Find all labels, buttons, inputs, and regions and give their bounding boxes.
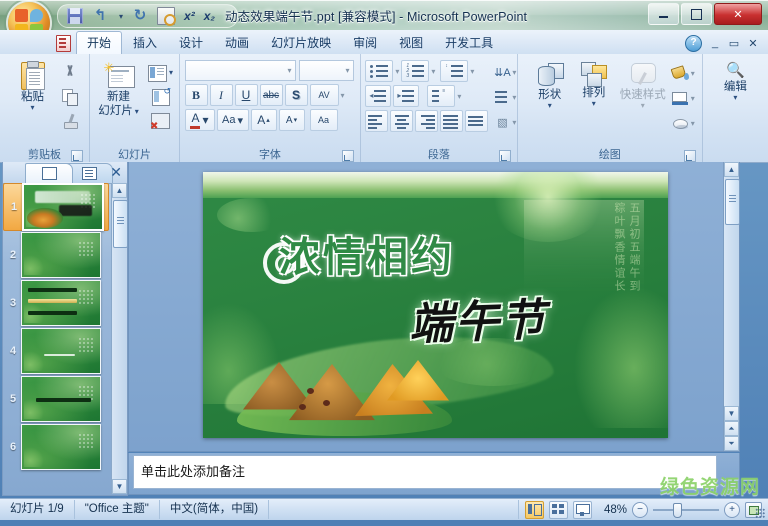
shrink-font-button[interactable]: A ▾ (279, 109, 305, 131)
italic-button[interactable]: I (210, 84, 233, 106)
justify-icon (443, 114, 461, 128)
copy-icon (62, 89, 78, 105)
change-case-button[interactable]: Aa ▾ (217, 109, 249, 131)
clear-formatting-icon: Aa (318, 115, 329, 125)
smartart-icon: ▧ (497, 116, 507, 129)
line-spacing-icon: ↕ (445, 64, 463, 78)
ribbon-restore-icon[interactable]: ▭ (728, 37, 740, 50)
new-slide-button[interactable]: ✳ 新建 幻灯片 ▾ (94, 60, 144, 120)
tab-insert[interactable]: 插入 (122, 31, 168, 54)
bullet-list-icon (370, 64, 388, 78)
slide-thumbnail-1[interactable] (22, 183, 104, 231)
slide-cloud-left (217, 198, 287, 232)
slide-bamboo-right (568, 278, 668, 428)
quick-styles-icon (629, 62, 657, 88)
view-slide-show-button[interactable] (573, 501, 592, 519)
superscript-icon[interactable]: x² (184, 8, 195, 24)
new-slide-chevron-down-icon[interactable]: ▾ (135, 109, 139, 115)
drawing-dialog-launcher-icon[interactable] (684, 150, 696, 162)
bold-button[interactable]: B (185, 84, 208, 106)
zoom-slider-handle[interactable] (673, 503, 682, 518)
print-preview-icon[interactable] (157, 7, 175, 25)
subscript-icon[interactable]: x₂ (204, 8, 215, 24)
columns-icon: ≡ (432, 89, 450, 103)
help-icon[interactable]: ? (685, 35, 702, 52)
shape-effects-icon (672, 116, 689, 131)
slides-group-title: 幻灯片 (93, 148, 176, 163)
outline-icon (82, 167, 97, 180)
reset-icon (152, 89, 170, 106)
paragraph-group-label: 段落 (428, 149, 450, 161)
zoom-level: 48% (597, 504, 627, 516)
view-normal-button[interactable] (525, 501, 544, 519)
tab-slides[interactable] (25, 163, 73, 183)
character-spacing-chevron-down-icon[interactable]: ▾ (341, 91, 345, 100)
drawing-group-label: 绘图 (599, 149, 621, 161)
increase-indent-button[interactable]: ▸ (393, 85, 419, 107)
columns-chevron-down-icon[interactable]: ▾ (457, 92, 461, 101)
clipboard-group-label: 剪贴板 (28, 149, 61, 161)
list-item[interactable]: 5 (3, 375, 111, 423)
numbering-button[interactable]: 123 (401, 60, 429, 82)
thumbnail-list: 1 2 3 4 (3, 183, 111, 494)
panel-scrollbar[interactable]: ▲ ▼ (111, 183, 127, 494)
paste-icon (20, 62, 46, 90)
font-size-chevron-down-icon[interactable]: ▾ (345, 66, 349, 75)
panel-scroll-up-icon[interactable]: ▲ (112, 183, 127, 198)
ribbon-group-paragraph: ▾ 123 ▾ ↕ ▾ ◂ (361, 54, 518, 163)
align-text-chevron-down-icon[interactable]: ▾ (512, 93, 516, 102)
ribbon-window-controls: ? _ ▭ ✕ (685, 32, 768, 54)
notes-input[interactable]: 单击此处添加备注 (133, 455, 717, 489)
zoom-in-button[interactable]: + (724, 502, 740, 518)
redo-icon[interactable]: ↻ (132, 8, 148, 24)
undo-icon[interactable]: ↰ (92, 8, 108, 24)
ribbon-group-clipboard: 粘贴 ▾ 剪贴板 (0, 54, 90, 163)
decrease-indent-button[interactable]: ◂ (365, 85, 391, 107)
shape-outline-icon (672, 91, 689, 106)
status-right-tools: 48% − + (519, 500, 768, 519)
tab-review[interactable]: 审阅 (342, 31, 388, 54)
slide-thumbnail-panel: ✕ 1 2 3 (2, 162, 128, 496)
status-spacer (269, 500, 519, 519)
editing-chevron-down-icon[interactable]: ▾ (733, 95, 737, 101)
clear-formatting-button[interactable]: Aa (310, 109, 338, 131)
close-panel-icon[interactable]: ✕ (110, 164, 122, 181)
distribute-button[interactable] (465, 110, 488, 132)
drawing-group-title: 绘图 (521, 148, 699, 163)
shrink-font-down-arrow-icon: ▾ (294, 116, 298, 124)
font-color-label: A (190, 111, 200, 129)
shape-effects-button[interactable] (671, 112, 691, 134)
columns-button[interactable]: ≡ (427, 85, 455, 107)
theme-name[interactable]: "Office 主题" (75, 500, 160, 519)
text-direction-button[interactable]: ⇊A (492, 61, 512, 83)
character-spacing-label: AV (318, 91, 329, 100)
zoom-out-button[interactable]: − (632, 502, 648, 518)
line-spacing-chevron-down-icon[interactable]: ▾ (470, 67, 474, 76)
panel-scrollbar-thumb[interactable] (113, 200, 128, 248)
align-left-button[interactable] (365, 110, 388, 132)
font-name-chevron-down-icon[interactable]: ▾ (287, 66, 291, 75)
notes-pane: 单击此处添加备注 (128, 453, 740, 495)
numbering-chevron-down-icon[interactable]: ▾ (431, 67, 435, 76)
slide-thumbnail-6[interactable] (21, 424, 101, 470)
ribbon-group-drawing: 形状 ▾ 排列 ▾ 快速样式 ▾ ▾ (518, 54, 703, 163)
reset-button[interactable] (146, 86, 176, 108)
bullets-chevron-down-icon[interactable]: ▾ (395, 67, 399, 76)
font-name-combo[interactable]: ▾ (185, 60, 296, 81)
shape-fill-chevron-down-icon[interactable]: ▾ (691, 69, 695, 78)
smartart-chevron-down-icon[interactable]: ▾ (512, 118, 516, 127)
font-size-combo[interactable]: ▾ (299, 60, 354, 81)
align-text-button[interactable] (492, 86, 512, 108)
bullets-button[interactable] (365, 60, 393, 82)
convert-smartart-button[interactable]: ▧ (492, 111, 512, 133)
font-color-button[interactable]: A ▾ (185, 109, 215, 131)
font-dialog-launcher-icon[interactable] (342, 150, 354, 162)
zoom-slider[interactable] (653, 503, 719, 517)
paint-bucket-icon (672, 66, 689, 81)
align-center-button[interactable] (390, 110, 413, 132)
status-bar: 幻灯片 1/9 "Office 主题" 中文(简体，中国) 48% − + (0, 498, 768, 520)
title-bar: ↰ ▾ ↻ x² x₂ ▾ 动态效果端午节.ppt [兼容模式] - Micro… (0, 0, 768, 31)
list-item[interactable]: 1 (3, 183, 109, 231)
thumbnail-number: 3 (5, 297, 21, 309)
new-slide-label-line2: 幻灯片 (98, 105, 133, 118)
shape-outline-chevron-down-icon[interactable]: ▾ (691, 94, 695, 103)
undo-dropdown-chevron-down-icon[interactable]: ▾ (119, 12, 123, 21)
slide-thumbnail-2[interactable] (21, 232, 101, 278)
align-right-button[interactable] (415, 110, 438, 132)
ribbon-group-font: ▾ ▾ B I U abc S AV ▾ (180, 54, 361, 163)
ribbon-group-editing: 🔍 编辑 ▾ (703, 54, 768, 163)
slide-thumbnail-4[interactable] (21, 328, 101, 374)
slide-editing-area: 五月初五端午到 粽叶飘香情谊长 浓情相约 端午节 ▲ (128, 162, 740, 452)
decrease-indent-icon: ◂ (369, 89, 387, 103)
clipboard-dialog-launcher-icon[interactable] (71, 150, 83, 162)
tab-slideshow[interactable]: 幻灯片放映 (260, 31, 342, 54)
new-slide-label-line1: 新建 (107, 91, 130, 104)
align-right-icon (418, 114, 436, 128)
slide-thumbnail-5[interactable] (21, 376, 101, 422)
align-text-icon (493, 90, 511, 104)
thumbnail-number: 4 (5, 345, 21, 357)
editing-button[interactable]: 🔍 编辑 ▾ (712, 60, 758, 103)
ribbon-close-icon[interactable]: ✕ (747, 37, 759, 50)
thumbnail-number: 1 (6, 201, 22, 213)
resize-grip[interactable] (755, 508, 765, 518)
thumbnail-number: 5 (5, 393, 21, 405)
font-group-title: 字体 (183, 148, 357, 163)
slide-scrollbar-thumb[interactable] (725, 179, 740, 225)
shrink-font-label: A (286, 115, 293, 126)
view-slide-sorter-button[interactable] (549, 501, 568, 519)
list-item[interactable]: 3 (3, 279, 111, 327)
text-direction-chevron-down-icon[interactable]: ▾ (512, 68, 516, 77)
distribute-icon (468, 114, 486, 128)
tab-home[interactable]: 开始 (76, 31, 122, 55)
increase-indent-icon: ▸ (397, 89, 415, 103)
slide-scroll-down-icon[interactable]: ▼ (724, 406, 739, 421)
slide-subtitle[interactable]: 端午节 (408, 296, 548, 351)
paragraph-group-title: 段落 (364, 148, 514, 163)
grow-font-up-arrow-icon: ▴ (266, 116, 270, 124)
numbered-list-icon: 123 (406, 64, 424, 78)
paste-chevron-down-icon[interactable]: ▾ (30, 105, 34, 111)
powerpoint-app-icon (50, 32, 76, 54)
tab-animations[interactable]: 动画 (214, 31, 260, 54)
shapes-chevron-down-icon[interactable]: ▾ (548, 103, 552, 109)
ribbon-tab-strip: 开始 插入 设计 动画 幻灯片放映 审阅 视图 开发工具 ? _ ▭ ✕ (0, 30, 768, 55)
language-indicator[interactable]: 中文(简体，中国) (160, 500, 269, 519)
strikethrough-button[interactable]: abc (260, 84, 283, 106)
shapes-button[interactable]: 形状 ▾ (529, 60, 571, 111)
slide-vertical-scrollbar[interactable]: ▲ ▼ ⏶ ⏷ (723, 162, 739, 451)
panel-scroll-down-icon[interactable]: ▼ (112, 479, 127, 494)
editing-group-title (706, 148, 765, 163)
arrange-chevron-down-icon[interactable]: ▾ (592, 101, 596, 107)
tab-developer[interactable]: 开发工具 (434, 31, 504, 54)
align-left-icon (368, 114, 386, 128)
text-direction-icon: ⇊A (494, 66, 511, 79)
paintbrush-icon (62, 113, 78, 129)
close-button[interactable]: ✕ (714, 3, 762, 25)
list-item[interactable]: 2 (3, 231, 111, 279)
window-title: 动态效果端午节.ppt [兼容模式] - Microsoft PowerPoin… (225, 6, 527, 25)
format-painter-button[interactable] (59, 110, 81, 132)
clipboard-group-title: 剪贴板 (3, 148, 86, 163)
slide-thumbnail-icon (42, 167, 57, 180)
scissors-icon (62, 65, 78, 81)
thumbnail-number: 2 (5, 249, 21, 261)
previous-slide-button[interactable]: ⏶ (724, 421, 739, 436)
current-slide[interactable]: 五月初五端午到 粽叶飘香情谊长 浓情相约 端午节 (203, 172, 668, 438)
binoculars-icon: 🔍 (724, 62, 746, 80)
restore-button[interactable] (681, 3, 712, 25)
shape-effects-chevron-down-icon[interactable]: ▾ (691, 119, 695, 128)
slide-thumbnail-3[interactable] (21, 280, 101, 326)
ribbon-group-slides: ✳ 新建 幻灯片 ▾ ▾ (90, 54, 180, 163)
powerpoint-window: ↰ ▾ ↻ x² x₂ ▾ 动态效果端午节.ppt [兼容模式] - Micro… (0, 0, 768, 526)
paragraph-dialog-launcher-icon[interactable] (499, 150, 511, 162)
cut-button[interactable] (59, 62, 81, 84)
grow-font-label: A (257, 113, 265, 127)
save-icon[interactable] (67, 8, 83, 24)
paste-button[interactable]: 粘贴 ▾ (9, 60, 57, 113)
tab-design[interactable]: 设计 (168, 31, 214, 54)
ribbon: 粘贴 ▾ 剪贴板 ✳ 新建 (0, 54, 768, 163)
new-slide-icon: ✳ (104, 62, 134, 90)
list-item[interactable]: 6 (3, 423, 111, 471)
slide-scroll-up-icon[interactable]: ▲ (724, 162, 739, 177)
slides-group-label: 幻灯片 (118, 149, 151, 161)
justify-button[interactable] (440, 110, 463, 132)
shape-fill-button[interactable] (671, 62, 691, 84)
arrange-icon (581, 62, 607, 86)
minimize-button[interactable] (648, 3, 679, 25)
layout-button[interactable]: ▾ (146, 62, 176, 84)
thumbnail-number: 6 (5, 441, 21, 453)
next-slide-button[interactable]: ⏷ (724, 436, 739, 451)
slide-counter[interactable]: 幻灯片 1/9 (0, 500, 75, 519)
underline-button[interactable]: U (235, 84, 258, 106)
tab-view[interactable]: 视图 (388, 31, 434, 54)
text-shadow-button[interactable]: S (285, 84, 308, 106)
copy-button[interactable] (59, 86, 81, 108)
align-center-icon (393, 114, 411, 128)
character-spacing-button[interactable]: AV (310, 84, 339, 106)
slide-title[interactable]: 浓情相约 (279, 234, 455, 280)
delete-slide-button[interactable] (146, 110, 176, 132)
grow-font-button[interactable]: A ▴ (251, 109, 277, 131)
font-group-label: 字体 (259, 149, 281, 161)
ribbon-minimize-icon[interactable]: _ (709, 37, 721, 49)
change-case-label: Aa (222, 114, 235, 126)
shapes-icon (536, 62, 564, 88)
shape-outline-button[interactable] (671, 87, 691, 109)
workspace: ✕ 1 2 3 (0, 162, 768, 495)
list-item[interactable]: 4 (3, 327, 111, 375)
quick-access-toolbar: ↰ ▾ ↻ x² x₂ ▾ (57, 4, 238, 28)
arrange-button[interactable]: 排列 ▾ (573, 60, 615, 109)
panel-tab-strip: ✕ (3, 162, 127, 184)
delete-icon (151, 113, 170, 129)
window-controls: ✕ (648, 3, 762, 25)
quick-styles-chevron-down-icon[interactable]: ▾ (641, 103, 645, 109)
quick-styles-button[interactable]: 快速样式 ▾ (617, 60, 669, 111)
layout-icon (148, 65, 167, 82)
line-spacing-button[interactable]: ↕ (440, 60, 468, 82)
